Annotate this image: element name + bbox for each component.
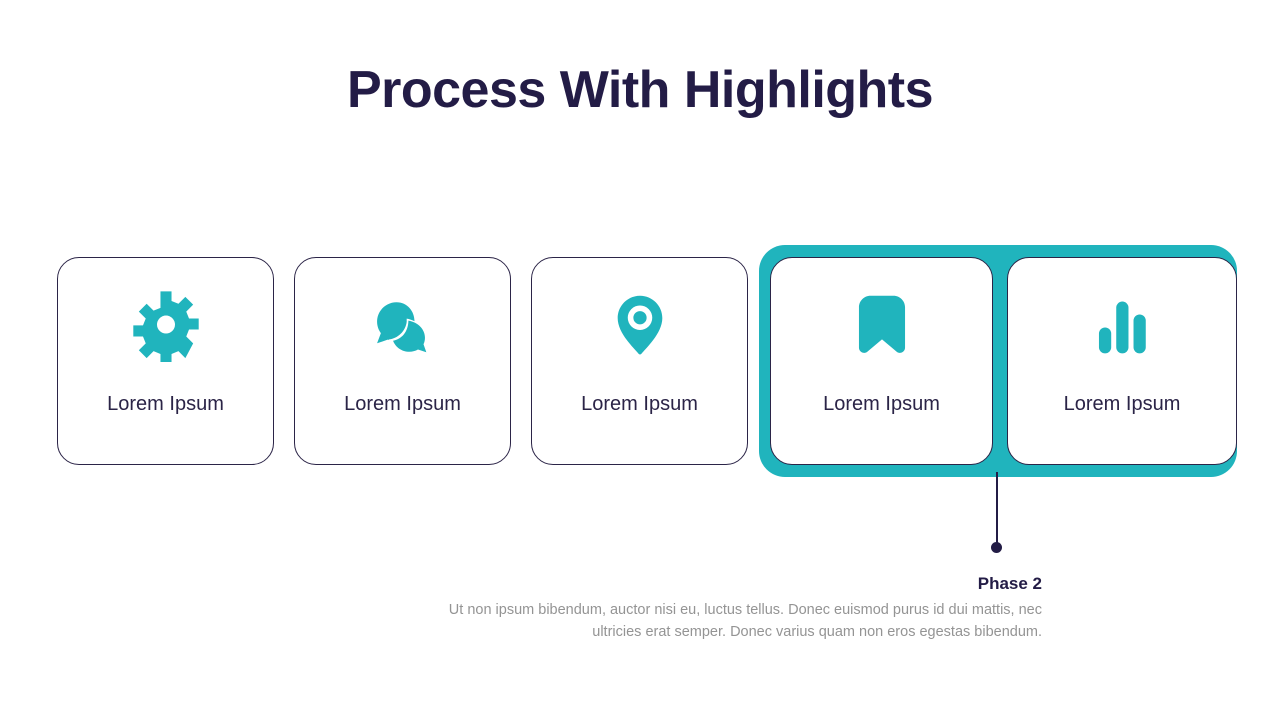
- callout-connector-dot: [991, 542, 1002, 553]
- process-step-card-3[interactable]: Lorem Ipsum: [531, 257, 748, 465]
- callout-body: Ut non ipsum bibendum, auctor nisi eu, l…: [440, 600, 1042, 644]
- process-steps-row: Lorem Ipsum Lorem Ipsum Lorem Ipsum Lore…: [57, 245, 1237, 477]
- process-step-label: Lorem Ipsum: [295, 393, 510, 416]
- bookmark-icon: [846, 290, 918, 362]
- process-step-label: Lorem Ipsum: [771, 393, 992, 416]
- page-title: Process With Highlights: [0, 62, 1280, 119]
- process-step-card-2[interactable]: Lorem Ipsum: [294, 257, 511, 465]
- map-pin-icon: [604, 290, 676, 362]
- process-step-card-5[interactable]: Lorem Ipsum: [1007, 257, 1237, 465]
- chat-bubbles-icon: [367, 290, 439, 362]
- process-step-label: Lorem Ipsum: [58, 393, 273, 416]
- process-step-label: Lorem Ipsum: [1008, 393, 1236, 416]
- process-step-card-4[interactable]: Lorem Ipsum: [770, 257, 993, 465]
- bar-chart-icon: [1086, 290, 1158, 362]
- process-step-card-1[interactable]: Lorem Ipsum: [57, 257, 274, 465]
- callout-connector-line: [996, 472, 998, 547]
- process-step-label: Lorem Ipsum: [532, 393, 747, 416]
- callout-block: Phase 2 Ut non ipsum bibendum, auctor ni…: [440, 574, 1042, 644]
- gear-icon: [130, 290, 202, 362]
- callout-title: Phase 2: [440, 574, 1042, 594]
